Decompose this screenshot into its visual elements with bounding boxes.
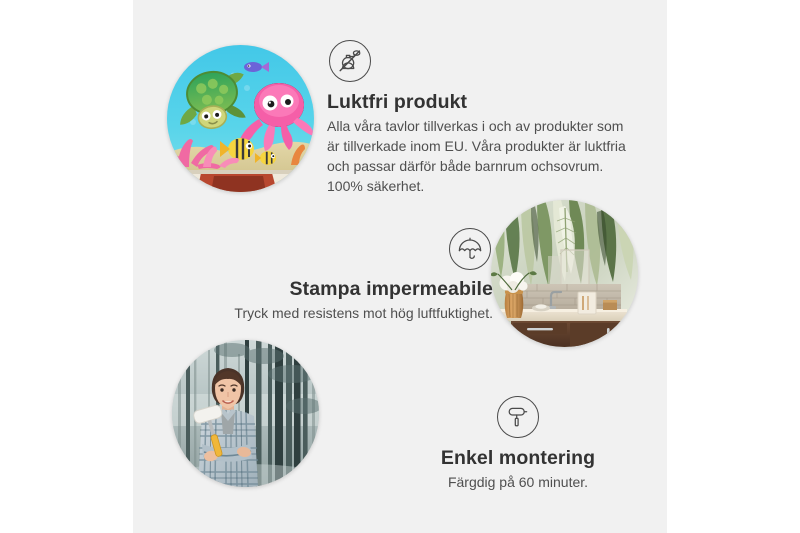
- promo-graphic: Luktfri produkt Alla våra tavlor tillver…: [0, 0, 800, 533]
- feature-mounting-title: Enkel montering: [383, 447, 653, 470]
- feature-odorless-title: Luktfri produkt: [327, 91, 627, 114]
- feature-mounting-body: Färgdig på 60 minuter.: [383, 473, 653, 493]
- feature-panel: Luktfri produkt Alla våra tavlor tillver…: [133, 0, 667, 533]
- feature-waterproof: Stampa impermeabile Tryck med resistens …: [186, 228, 493, 324]
- no-odor-spray-bottle-icon: [329, 40, 371, 82]
- feature-odorless-body: Alla våra tavlor tillverkas i och av pro…: [327, 117, 627, 197]
- feature-waterproof-body: Tryck med resistens mot hög luftfuktighe…: [186, 304, 493, 324]
- feature-odorless: Luktfri produkt Alla våra tavlor tillver…: [327, 40, 627, 197]
- feature-mounting: Enkel montering Färgdig på 60 minuter.: [383, 396, 653, 493]
- feature-waterproof-icon-wrap: [186, 228, 493, 270]
- woman-with-paint-roller-thumbnail[interactable]: [172, 340, 319, 487]
- paint-roller-icon: [497, 396, 539, 438]
- feature-mounting-icon-wrap: [383, 396, 653, 438]
- umbrella-icon: [449, 228, 491, 270]
- feature-waterproof-title: Stampa impermeabile: [186, 278, 493, 301]
- bathroom-leaf-wallpaper-thumbnail[interactable]: [491, 200, 638, 347]
- feature-odorless-icon-wrap: [327, 40, 627, 82]
- underwater-cartoon-mural-thumbnail[interactable]: [167, 45, 314, 192]
